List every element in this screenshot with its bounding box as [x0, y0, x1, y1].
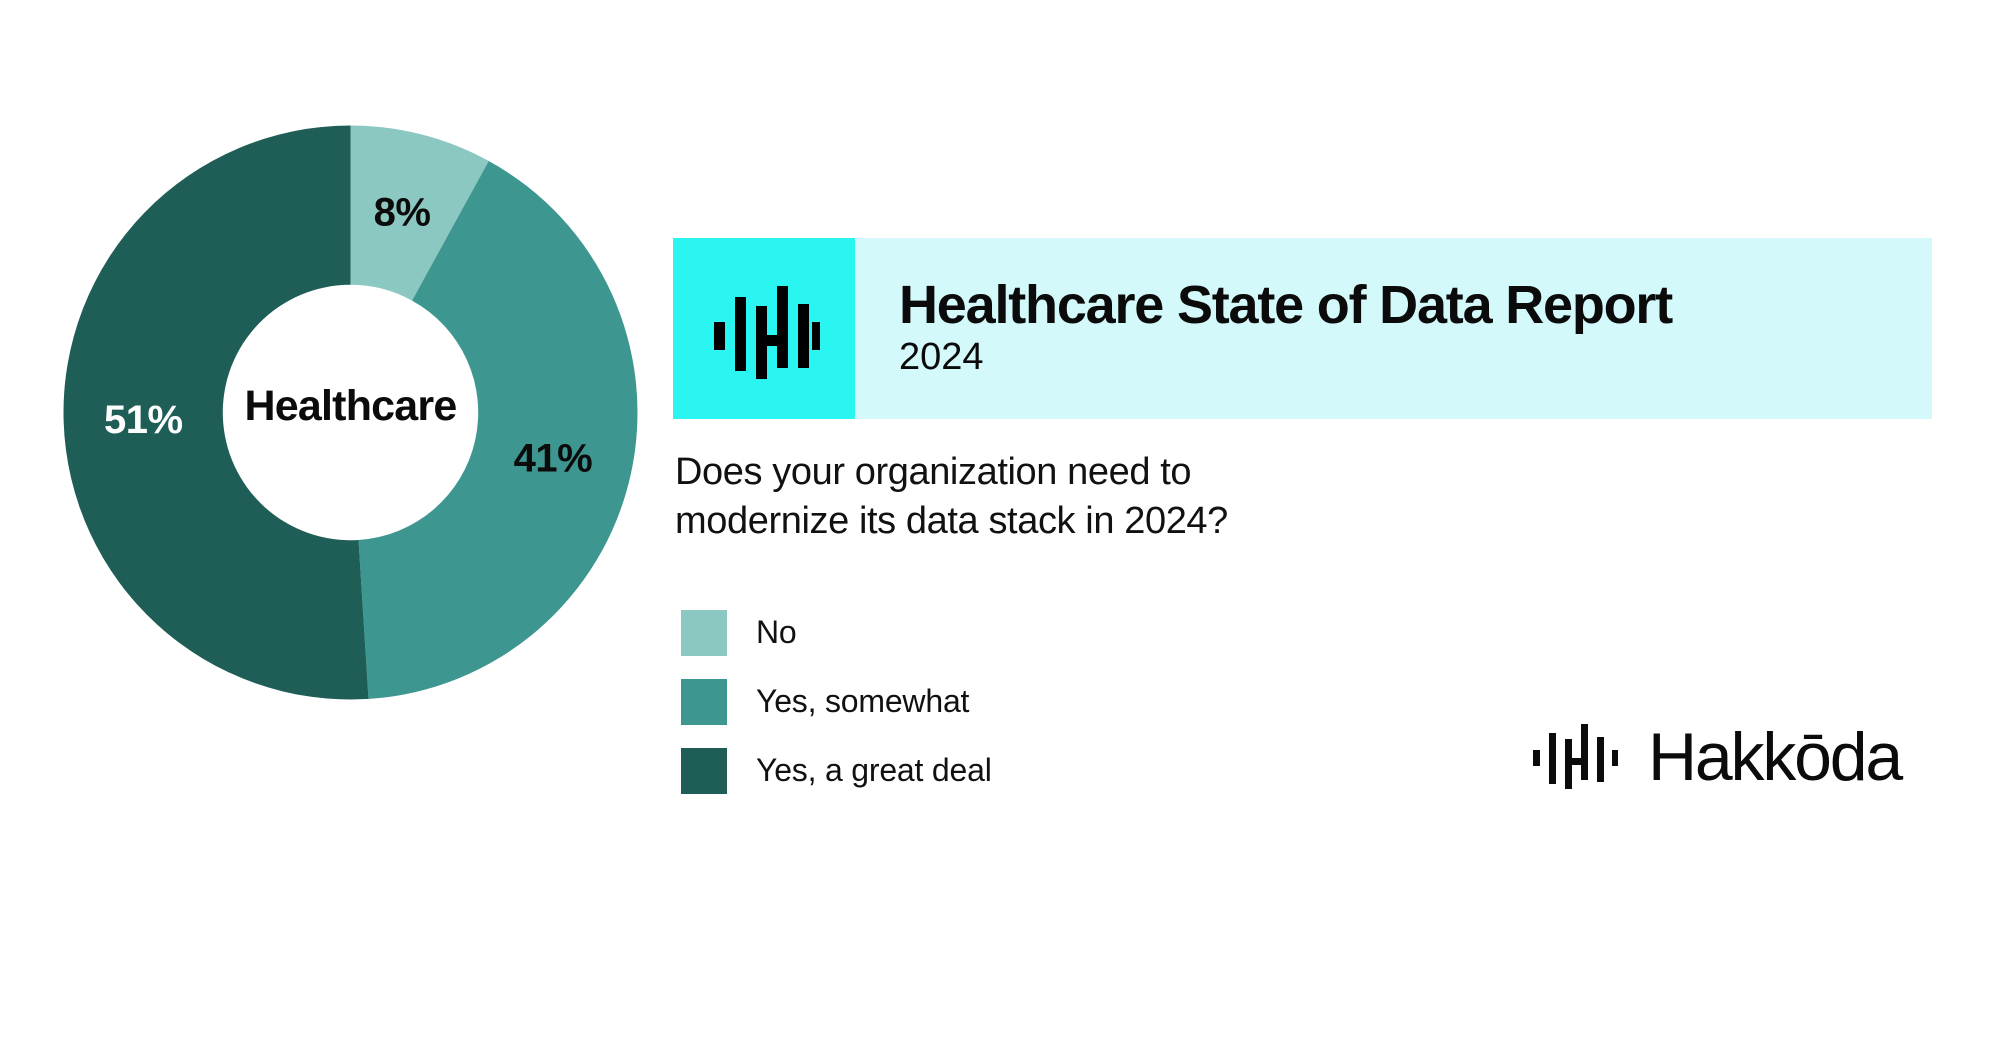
donut-slice-data-label: 41%	[514, 437, 593, 481]
donut-chart: Healthcare 8%41%51%	[63, 125, 638, 700]
survey-question: Does your organization need to modernize…	[675, 448, 1435, 545]
legend-color-swatch	[681, 679, 727, 725]
legend-item[interactable]: No	[681, 598, 1181, 667]
donut-slice-data-label: 8%	[374, 191, 431, 235]
report-year: 2024	[899, 335, 1932, 380]
hakkoda-wordmark-logo: Hakkōda	[1530, 718, 1926, 796]
legend-item-label: No	[756, 614, 797, 651]
donut-chart-svg: Healthcare 8%41%51%	[63, 125, 638, 700]
donut-slice-data-label: 51%	[104, 398, 183, 442]
legend-item[interactable]: Yes, somewhat	[681, 667, 1181, 736]
legend-color-swatch	[681, 610, 727, 656]
banner-text-block: Healthcare State of Data Report 2024	[855, 238, 1932, 419]
infographic-canvas: Healthcare 8%41%51% Healthcare State of …	[0, 0, 1997, 1047]
report-title-banner: Healthcare State of Data Report 2024	[673, 238, 1932, 419]
donut-center-label: Healthcare	[245, 382, 457, 430]
hakkoda-logo-tile	[673, 238, 855, 419]
legend-item-label: Yes, somewhat	[756, 683, 969, 720]
legend-item[interactable]: Yes, a great deal	[681, 736, 1181, 805]
survey-question-line-1: Does your organization need to	[675, 448, 1435, 497]
hakkoda-mark-icon	[1530, 719, 1626, 795]
chart-legend: NoYes, somewhatYes, a great deal	[681, 598, 1181, 805]
legend-item-label: Yes, a great deal	[756, 752, 992, 789]
hakkoda-wordmark-text: Hakkōda	[1648, 723, 1901, 791]
report-title: Healthcare State of Data Report	[899, 277, 1932, 333]
legend-color-swatch	[681, 748, 727, 794]
hakkoda-mark-icon	[708, 273, 820, 385]
survey-question-line-2: modernize its data stack in 2024?	[675, 497, 1435, 546]
